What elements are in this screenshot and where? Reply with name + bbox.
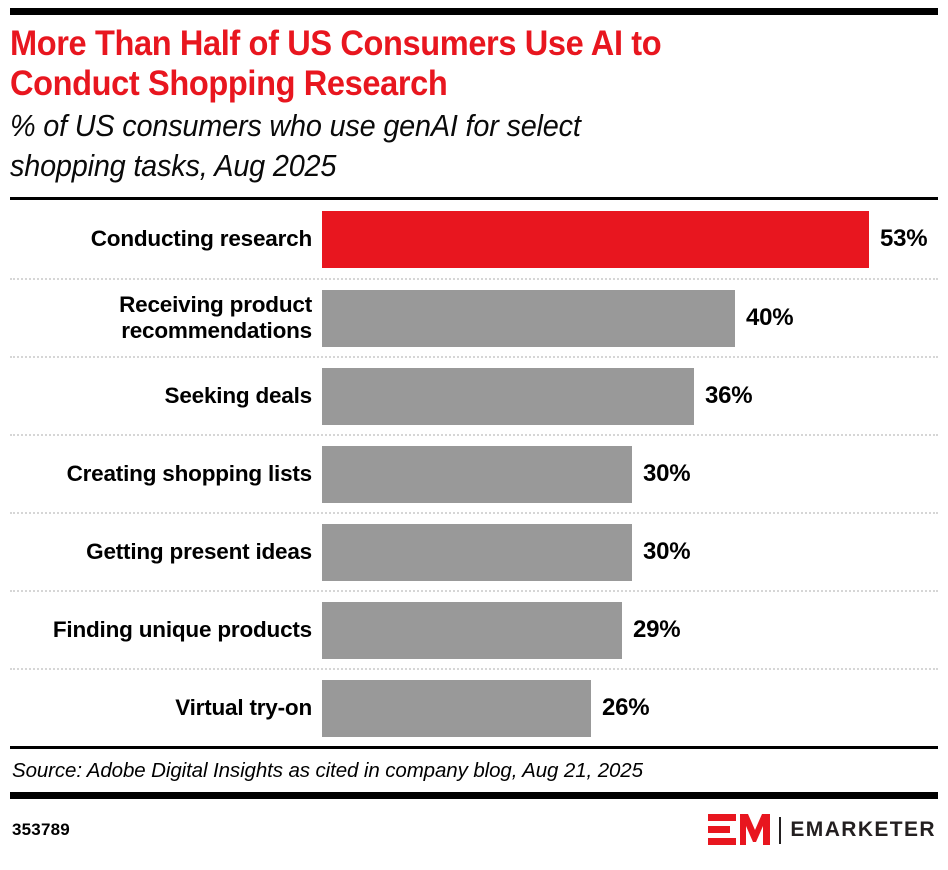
bar-category-label: Conducting research	[10, 226, 322, 252]
bar-value-label: 30%	[643, 460, 690, 488]
bar-category-label: Seeking deals	[10, 383, 322, 409]
bar-row: Virtual try-on 26%	[10, 668, 938, 746]
bar-track: 40%	[322, 280, 938, 356]
source-rule-bottom	[10, 792, 938, 799]
bar-track: 30%	[322, 514, 938, 590]
bar-category-label: Creating shopping lists	[10, 461, 322, 487]
bar-row: Finding unique products 29%	[10, 590, 938, 668]
bar-track: 29%	[322, 592, 938, 668]
bar-track: 53%	[322, 200, 938, 278]
bar-track: 36%	[322, 358, 938, 434]
source-note: Source: Adobe Digital Insights as cited …	[10, 749, 938, 792]
bar-value-label: 29%	[633, 616, 680, 644]
bar-track: 30%	[322, 436, 938, 512]
bar-fill	[322, 368, 694, 425]
bar-row: Getting present ideas 30%	[10, 512, 938, 590]
bar-category-label: Finding unique products	[10, 617, 322, 643]
chart-header: More Than Half of US Consumers Use AI to…	[10, 15, 938, 186]
bar-fill	[322, 680, 591, 737]
bar-value-label: 53%	[880, 225, 927, 253]
bar-chart: Conducting research 53% Receiving produc…	[10, 200, 938, 746]
bar-fill	[322, 524, 632, 581]
em-monogram-icon	[708, 813, 770, 847]
bar-track: 26%	[322, 670, 938, 746]
bar-row: Conducting research 53%	[10, 200, 938, 278]
bar-category-label: Getting present ideas	[10, 539, 322, 565]
bar-value-label: 36%	[705, 382, 752, 410]
top-rule	[10, 8, 938, 15]
bar-category-label: Receiving product recommendations	[10, 292, 322, 344]
chart-subtitle: % of US consumers who use genAI for sele…	[10, 106, 873, 186]
bar-fill	[322, 602, 622, 659]
bar-category-label: Virtual try-on	[10, 695, 322, 721]
bar-fill	[322, 211, 869, 268]
chart-title: More Than Half of US Consumers Use AI to…	[10, 24, 873, 104]
logo-divider	[779, 817, 781, 844]
bar-row: Receiving product recommendations 40%	[10, 278, 938, 356]
brand-wordmark: EMARKETER	[790, 818, 936, 842]
bar-value-label: 40%	[746, 304, 793, 332]
chart-footer: 353789 EMARKETER	[10, 799, 938, 847]
bar-fill	[322, 446, 632, 503]
chart-page: More Than Half of US Consumers Use AI to…	[0, 8, 948, 870]
bar-row: Seeking deals 36%	[10, 356, 938, 434]
bar-fill	[322, 290, 735, 347]
bar-row: Creating shopping lists 30%	[10, 434, 938, 512]
bar-value-label: 30%	[643, 538, 690, 566]
chart-id: 353789	[10, 820, 70, 840]
bar-value-label: 26%	[602, 694, 649, 722]
emarketer-logo: EMARKETER	[708, 813, 938, 847]
